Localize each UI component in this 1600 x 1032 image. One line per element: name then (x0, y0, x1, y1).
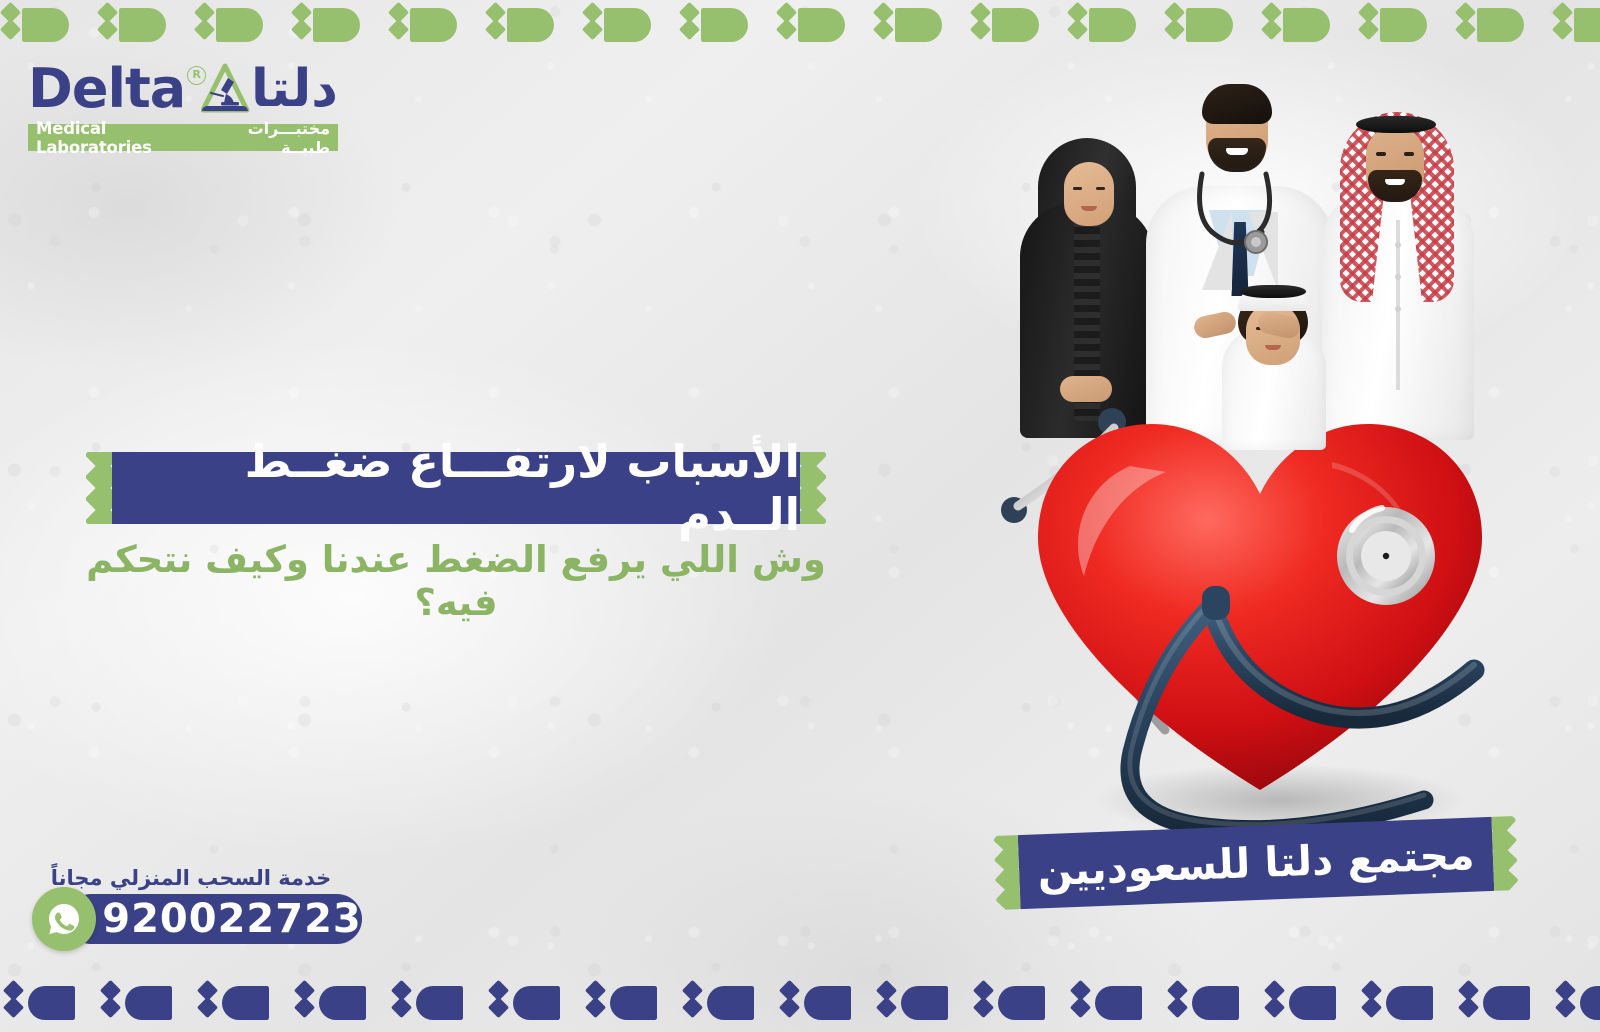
headline-subtitle: وش اللي يرفع الضغط عندنا وكيف نتحكم فيه؟ (86, 538, 826, 624)
border-diamond (582, 19, 603, 40)
person-child (1208, 265, 1338, 450)
border-d-shape (119, 8, 166, 42)
border-tile (1067, 0, 1164, 50)
border-d-shape (22, 8, 69, 42)
border-tile (0, 972, 97, 1032)
border-d-shape (998, 986, 1045, 1020)
border-d-shape (1483, 986, 1530, 1020)
border-diamond (391, 997, 412, 1018)
border-tile (291, 972, 388, 1032)
headline-left-diamond-decor (800, 452, 826, 524)
border-tile (679, 972, 776, 1032)
phone-pill[interactable]: 920022723 (66, 894, 362, 944)
border-diamond (779, 997, 800, 1018)
border-diamond (1361, 997, 1382, 1018)
border-diamond (973, 997, 994, 1018)
border-diamond (485, 19, 506, 40)
border-diamond (679, 19, 700, 40)
border-d-shape (1289, 986, 1336, 1020)
border-d-shape (707, 986, 754, 1020)
border-diamond (1164, 19, 1185, 40)
contact-block: خدمة السحب المنزلي مجاناً 920022723 (32, 866, 362, 944)
border-d-shape (798, 8, 845, 42)
border-d-shape (1386, 986, 1433, 1020)
border-d-shape (513, 986, 560, 1020)
border-d-shape (895, 8, 942, 42)
doctor-hair (1202, 84, 1272, 124)
border-diamond (1261, 19, 1282, 40)
border-d-shape (1186, 8, 1233, 42)
border-tile (1164, 0, 1261, 50)
border-diamond (1455, 19, 1476, 40)
border-tile (1358, 972, 1455, 1032)
border-d-shape (216, 8, 263, 42)
headline-banner: الأسباب لارتفـــاع ضغــط الــدم (86, 452, 826, 524)
doctor-stethoscope-icon (1184, 170, 1296, 274)
border-diamond (1264, 997, 1285, 1018)
border-tile (1164, 972, 1261, 1032)
border-tile (970, 972, 1067, 1032)
border-tile (1261, 0, 1358, 50)
logo-latin-name: Delta (28, 62, 185, 116)
border-d-shape (507, 8, 554, 42)
border-diamond (1167, 997, 1188, 1018)
community-banner-right-decor (994, 835, 1021, 910)
border-d-shape (125, 986, 172, 1020)
border-d-shape (610, 986, 657, 1020)
whatsapp-icon[interactable] (32, 887, 96, 951)
border-tile (1455, 0, 1552, 50)
microscope-in-triangle-icon: R (187, 60, 249, 118)
border-d-shape (28, 986, 75, 1020)
border-diamond (776, 19, 797, 40)
border-tile (873, 972, 970, 1032)
border-d-shape (1380, 8, 1427, 42)
border-tile (97, 972, 194, 1032)
border-tile (0, 0, 97, 50)
border-diamond (194, 19, 215, 40)
brand-logo: Delta R دلتا Medical Laboratories مختبــ… (28, 58, 338, 151)
border-d-shape (604, 8, 651, 42)
border-diamond (100, 997, 121, 1018)
border-tile (1455, 972, 1552, 1032)
poster-canvas: Delta R دلتا Medical Laboratories مختبــ… (0, 0, 1600, 1032)
border-tile (388, 972, 485, 1032)
border-d-shape (804, 986, 851, 1020)
border-diamond (585, 997, 606, 1018)
border-diamond (1358, 19, 1379, 40)
phone-number: 920022723 (66, 896, 362, 942)
logo-tagline-arabic: مختبـــرات طبيــة (208, 119, 330, 157)
border-diamond (1555, 997, 1576, 1018)
logo-tagline-latin: Medical Laboratories (36, 119, 208, 157)
border-diamond (1552, 19, 1573, 40)
border-tile (388, 0, 485, 50)
border-tile (1261, 972, 1358, 1032)
border-diamond (294, 997, 315, 1018)
home-service-note: خدمة السحب المنزلي مجاناً (32, 866, 362, 890)
border-tile (485, 0, 582, 50)
woman-face (1064, 162, 1114, 226)
border-d-shape (1283, 8, 1330, 42)
border-d-shape (410, 8, 457, 42)
headline-block: الأسباب لارتفـــاع ضغــط الــدم وش اللي … (86, 452, 826, 624)
border-diamond (682, 997, 703, 1018)
border-tile (970, 0, 1067, 50)
border-tile (194, 0, 291, 50)
bottom-decorative-border (0, 972, 1600, 1032)
igal-cord (1356, 116, 1436, 133)
border-diamond (97, 19, 118, 40)
border-tile (97, 0, 194, 50)
border-tile (776, 0, 873, 50)
child-igal-cord (1240, 285, 1306, 298)
border-tile (1358, 0, 1455, 50)
border-d-shape (901, 986, 948, 1020)
border-tile (485, 972, 582, 1032)
border-d-shape (701, 8, 748, 42)
border-tile (1067, 972, 1164, 1032)
border-diamond (388, 19, 409, 40)
border-d-shape (1477, 8, 1524, 42)
border-diamond (1070, 997, 1091, 1018)
border-diamond (970, 19, 991, 40)
border-diamond (876, 997, 897, 1018)
border-diamond (291, 19, 312, 40)
border-diamond (1067, 19, 1088, 40)
border-tile (582, 0, 679, 50)
border-tile (291, 0, 388, 50)
border-diamond (873, 19, 894, 40)
headline-title: الأسباب لارتفـــاع ضغــط الــدم (112, 452, 800, 524)
border-diamond (197, 997, 218, 1018)
top-decorative-border (0, 0, 1600, 50)
border-diamond (1458, 997, 1479, 1018)
border-d-shape (1580, 986, 1600, 1020)
headline-right-diamond-decor (86, 452, 112, 524)
border-d-shape (1574, 8, 1600, 42)
border-d-shape (1089, 8, 1136, 42)
logo-tagline-bar: Medical Laboratories مختبـــرات طبيــة (28, 124, 338, 151)
border-d-shape (416, 986, 463, 1020)
border-d-shape (222, 986, 269, 1020)
border-d-shape (992, 8, 1039, 42)
border-tile (582, 972, 679, 1032)
logo-arabic-name: دلتا (251, 63, 338, 115)
community-banner-left-decor (1491, 816, 1518, 891)
border-diamond (0, 19, 21, 40)
border-diamond (488, 997, 509, 1018)
border-tile (679, 0, 776, 50)
doctor-beard (1208, 138, 1266, 172)
border-tile (873, 0, 970, 50)
border-d-shape (319, 986, 366, 1020)
border-diamond (3, 997, 24, 1018)
border-tile (1552, 972, 1600, 1032)
border-d-shape (1095, 986, 1142, 1020)
border-d-shape (1192, 986, 1239, 1020)
border-tile (194, 972, 291, 1032)
border-d-shape (313, 8, 360, 42)
border-tile (776, 972, 873, 1032)
border-tile (1552, 0, 1600, 50)
